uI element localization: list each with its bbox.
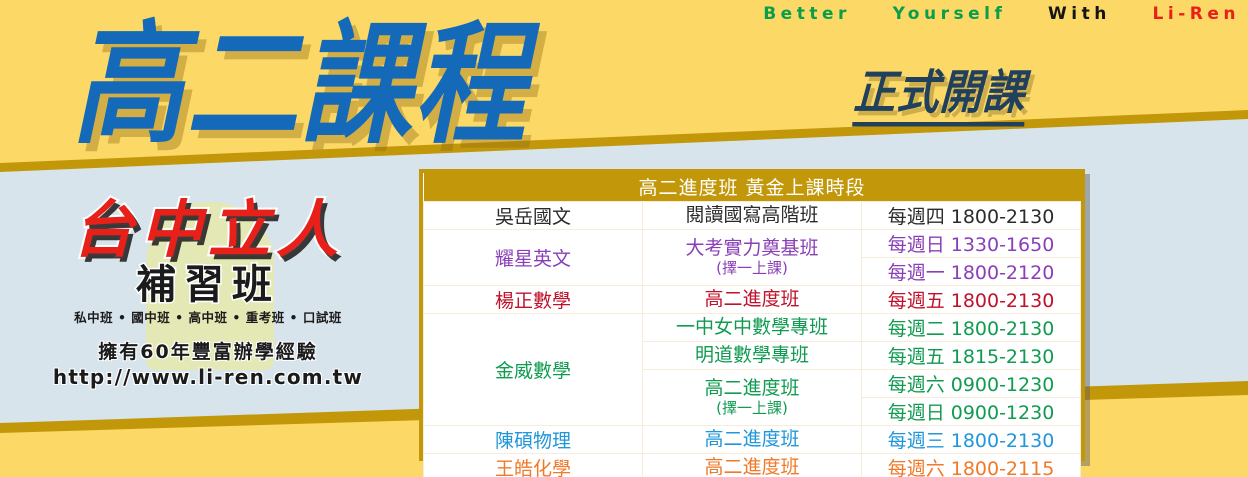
course-name: 高二進度班 [647, 377, 857, 399]
table-row: 吳岳國文閱讀國寫高階班每週四 1800-2130 [424, 201, 1081, 229]
table-row: 王皓化學高二進度班每週六 1800-2115 [424, 453, 1081, 477]
course-cell: 高二進度班 [643, 453, 862, 477]
schedule-table: 高二進度班 黃金上課時段 吳岳國文閱讀國寫高階班每週四 1800-2130耀星英… [423, 173, 1081, 477]
course-name: 閱讀國寫高階班 [647, 204, 857, 226]
logo-subname: 補習班 [28, 262, 388, 308]
course-name: 大考實力奠基班 [647, 237, 857, 259]
teacher-cell: 吳岳國文 [424, 201, 643, 229]
time-cell: 每週六 0900-1230 [862, 369, 1081, 397]
schedule-table-header: 高二進度班 黃金上課時段 [424, 173, 1081, 201]
teacher-cell: 陳碩物理 [424, 425, 643, 453]
teacher-cell: 王皓化學 [424, 453, 643, 477]
time-cell: 每週二 1800-2130 [862, 313, 1081, 341]
course-cell: 高二進度班 [643, 425, 862, 453]
schedule-table-body: 吳岳國文閱讀國寫高階班每週四 1800-2130耀星英文大考實力奠基班(擇一上課… [424, 201, 1081, 477]
page-title: 高二課程 [72, 16, 528, 155]
time-cell: 每週一 1800-2120 [862, 257, 1081, 285]
table-row: 金威數學一中女中數學專班每週二 1800-2130 [424, 313, 1081, 341]
course-note: (擇一上課) [647, 259, 857, 277]
page-subtitle: 正式開課 [852, 66, 1027, 126]
course-name: 高二進度班 [647, 288, 857, 310]
time-cell: 每週三 1800-2130 [862, 425, 1081, 453]
table-row: 耀星英文大考實力奠基班(擇一上課)每週日 1330-1650 [424, 229, 1081, 257]
schedule-table-container: 高二進度班 黃金上課時段 吳岳國文閱讀國寫高階班每週四 1800-2130耀星英… [419, 169, 1085, 461]
time-cell: 每週五 1815-2130 [862, 341, 1081, 369]
logo-class-types: 私中班 • 國中班 • 高中班 • 重考班 • 口試班 [28, 310, 388, 326]
course-cell: 明道數學專班 [643, 341, 862, 369]
logo-experience: 擁有60年豐富辦學經驗 [28, 340, 388, 365]
teacher-cell: 楊正數學 [424, 285, 643, 313]
tagline-with: With [1048, 4, 1111, 24]
brand-tagline: Better Yourself With Li-Ren [640, 2, 1240, 26]
table-row: 楊正數學高二進度班每週五 1800-2130 [424, 285, 1081, 313]
course-note: (擇一上課) [647, 399, 857, 417]
time-cell: 每週五 1800-2130 [862, 285, 1081, 313]
course-cell: 高二進度班(擇一上課) [643, 369, 862, 425]
time-cell: 每週四 1800-2130 [862, 201, 1081, 229]
teacher-cell: 耀星英文 [424, 229, 643, 285]
teacher-cell: 金威數學 [424, 313, 643, 425]
tagline-better: Better [763, 4, 851, 24]
tagline-yourself: Yourself [893, 4, 1007, 24]
course-name: 明道數學專班 [647, 344, 857, 366]
time-cell: 每週日 0900-1230 [862, 397, 1081, 425]
course-name: 高二進度班 [647, 456, 857, 477]
tagline-liren: Li-Ren [1153, 4, 1240, 24]
course-name: 一中女中數學專班 [647, 316, 857, 338]
course-cell: 一中女中數學專班 [643, 313, 862, 341]
logo-website-url[interactable]: http://www.li-ren.com.tw [28, 365, 388, 390]
logo-name: 台中立人 [28, 196, 388, 264]
brand-logo-block: 台中立人 補習班 私中班 • 國中班 • 高中班 • 重考班 • 口試班 擁有6… [28, 196, 388, 390]
time-cell: 每週六 1800-2115 [862, 453, 1081, 477]
course-cell: 大考實力奠基班(擇一上課) [643, 229, 862, 285]
course-cell: 高二進度班 [643, 285, 862, 313]
course-cell: 閱讀國寫高階班 [643, 201, 862, 229]
course-name: 高二進度班 [647, 428, 857, 450]
table-row: 陳碩物理高二進度班每週三 1800-2130 [424, 425, 1081, 453]
time-cell: 每週日 1330-1650 [862, 229, 1081, 257]
